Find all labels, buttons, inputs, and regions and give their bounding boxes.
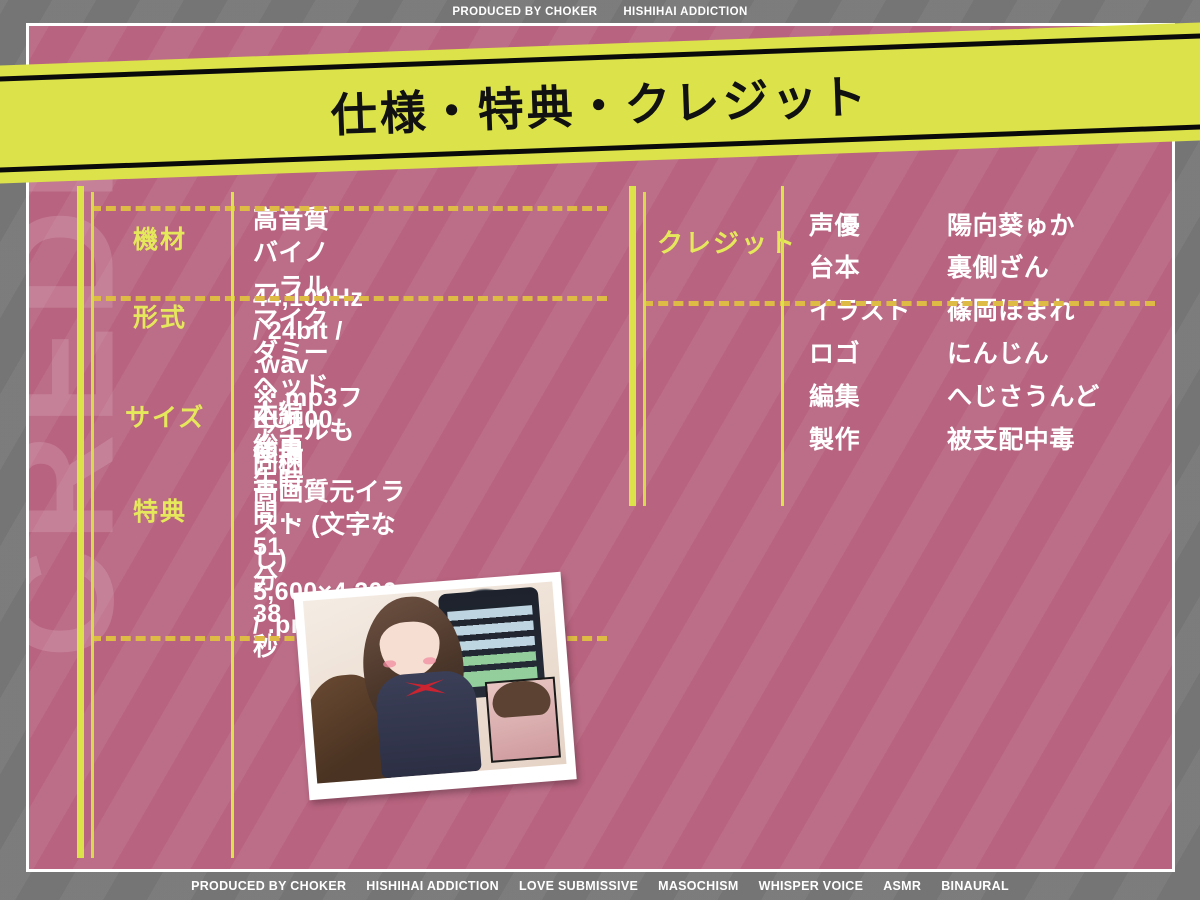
spec-row-label-1: 形式 <box>133 298 187 334</box>
credits-divider-bottom <box>643 301 1155 306</box>
spec-divider-3 <box>91 296 607 301</box>
bottom-caption-item-1: HISHIHAI ADDICTION <box>366 879 499 893</box>
bottom-caption-item-6: BINAURAL <box>941 879 1009 893</box>
credits-role-0: 声優 <box>809 206 860 242</box>
spec-accent-rule-thin <box>91 192 94 858</box>
spec-column-divider <box>231 192 234 858</box>
spec-row-label-2: サイズ <box>125 398 205 434</box>
credits-role-1: 台本 <box>809 248 860 284</box>
bottom-caption-item-0: PRODUCED BY CHOKER <box>191 879 346 893</box>
credits-name-2: 篠岡ほまれ <box>947 291 1075 327</box>
bottom-caption-item-3: MASOCHISM <box>658 879 738 893</box>
credits-role-3: ロゴ <box>809 334 860 370</box>
bottom-caption-item-2: LOVE SUBMISSIVE <box>519 879 638 893</box>
bottom-caption-item-4: WHISPER VOICE <box>759 879 864 893</box>
bottom-caption-item-5: ASMR <box>883 879 921 893</box>
inset-hair-shape <box>491 679 552 719</box>
credits-name-5: 被支配中毒 <box>947 420 1075 456</box>
credits-accent-rule-thick <box>629 186 636 506</box>
slide-canvas: PRODUCED BY CHOKER HISHIHAI ADDICTION CR… <box>0 0 1200 900</box>
credits-column-divider <box>781 186 784 506</box>
top-caption-bar: PRODUCED BY CHOKER HISHIHAI ADDICTION <box>0 0 1200 23</box>
credits-role-4: 編集 <box>809 377 860 413</box>
credits-name-0: 陽向葵ゅか <box>947 206 1075 242</box>
spec-row-label-3: 特典 <box>133 492 187 528</box>
credits-name-3: にんじん <box>947 334 1049 370</box>
credits-role-5: 製作 <box>809 420 860 456</box>
bonus-illustration-thumbnail[interactable] <box>293 572 576 800</box>
credits-role-2: イラスト <box>809 291 911 327</box>
credits-title: クレジット <box>657 223 797 260</box>
spec-row-label-0: 機材 <box>133 220 187 256</box>
credits-name-1: 裏側ざん <box>947 248 1049 284</box>
top-caption-item-1: HISHIHAI ADDICTION <box>623 6 747 18</box>
inset-panel-shape <box>485 677 561 763</box>
credits-accent-rule-thin <box>643 192 646 506</box>
credits-name-4: へじさうんど <box>947 377 1100 413</box>
spec-divider-2 <box>91 206 607 211</box>
spec-accent-rule-thick <box>77 186 84 858</box>
bottom-caption-bar: PRODUCED BY CHOKER HISHIHAI ADDICTION LO… <box>0 872 1200 900</box>
illustration-art <box>303 581 567 783</box>
top-caption-item-0: PRODUCED BY CHOKER <box>452 6 597 18</box>
